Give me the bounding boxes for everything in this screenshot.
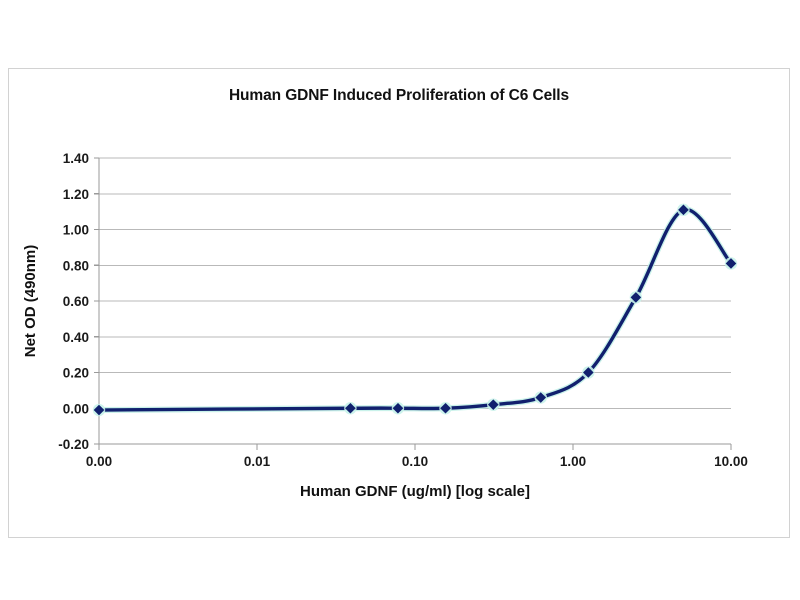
y-axis-tick-labels: -0.200.000.200.400.600.801.001.201.40 [58, 151, 89, 452]
x-axis-tick-labels: 0.000.010.101.0010.00 [86, 454, 748, 469]
x-tick-label: 0.00 [86, 454, 112, 469]
data-series [93, 204, 737, 417]
y-tick-label: 1.20 [63, 187, 89, 202]
x-axis-title: Human GDNF (ug/ml) [log scale] [300, 483, 530, 500]
x-tick-label: 0.01 [244, 454, 271, 469]
y-tick-label: 1.00 [63, 223, 89, 238]
y-tick-label: 0.80 [63, 258, 89, 273]
x-tick-label: 0.10 [402, 454, 428, 469]
y-tick-label: 0.40 [63, 330, 89, 345]
x-tick-label: 1.00 [560, 454, 586, 469]
y-tick-label: 0.60 [63, 294, 89, 309]
x-tick-label: 10.00 [714, 454, 748, 469]
y-axis-title: Net OD (490nm) [22, 245, 39, 358]
y-tick-label: 0.20 [63, 366, 89, 381]
y-tick-label: 1.40 [63, 151, 89, 166]
y-tick-label: -0.20 [58, 437, 89, 452]
chart-frame: Human GDNF Induced Proliferation of C6 C… [8, 68, 790, 538]
figure-canvas: Human GDNF Induced Proliferation of C6 C… [0, 0, 800, 600]
series-line [99, 209, 731, 410]
plot-area: -0.200.000.200.400.600.801.001.201.40 0.… [9, 69, 791, 539]
series-line-glow [99, 209, 731, 410]
y-tick-label: 0.00 [63, 401, 89, 416]
